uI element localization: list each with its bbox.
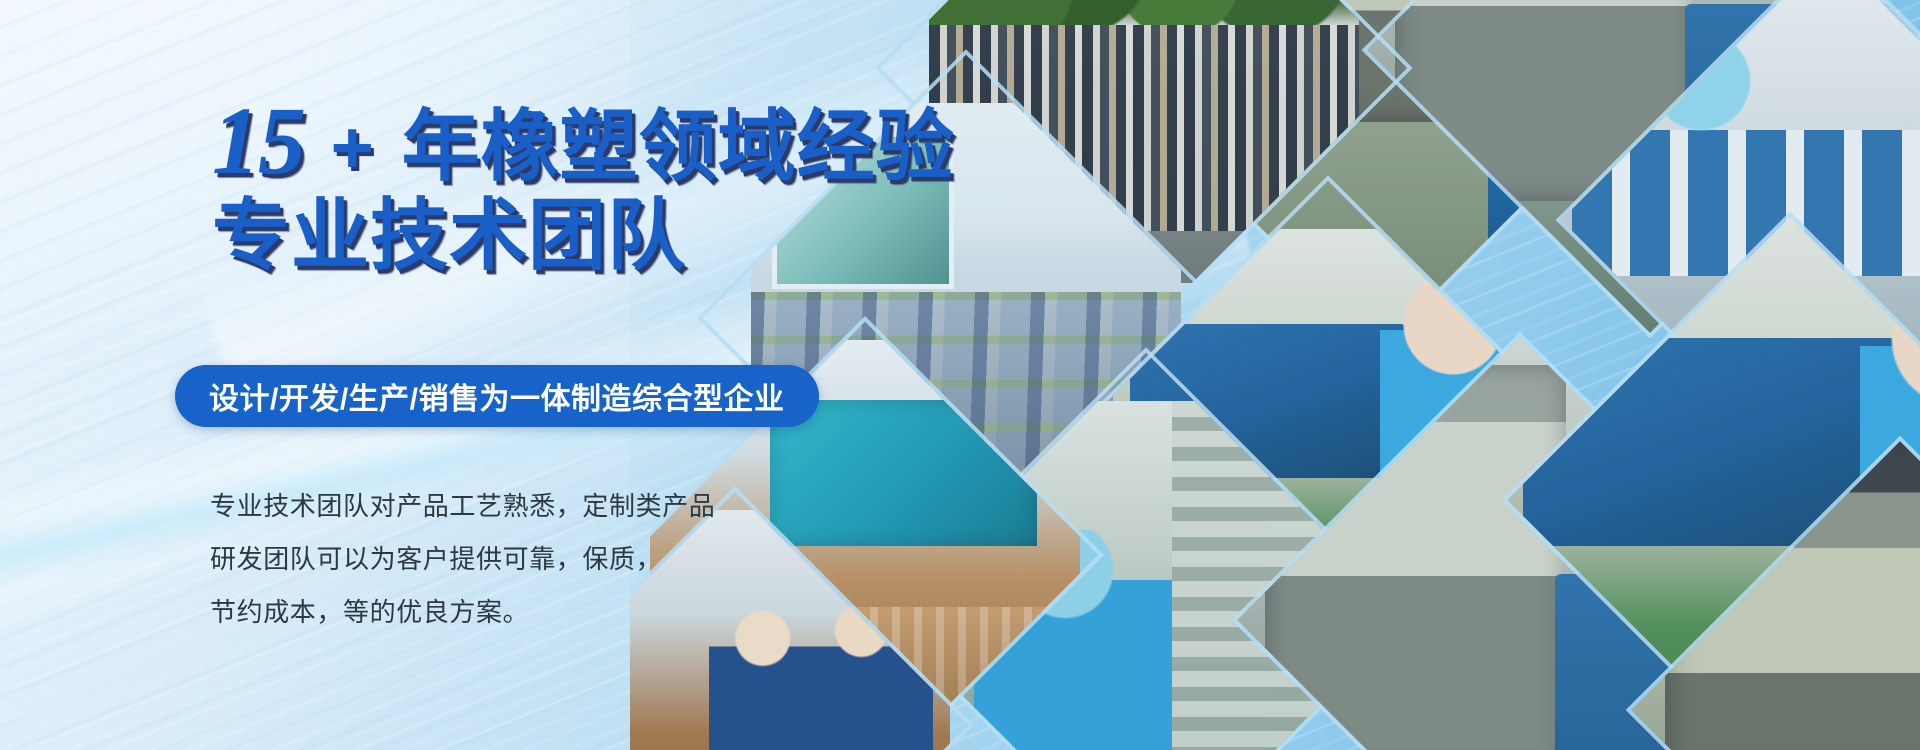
headline-line-1-text: 年橡塑领域经验 [402,102,955,190]
tagline-badge-label: 设计/开发/生产/销售为一体制造综合型企业 [209,374,785,418]
headline-plus-sign: + [331,106,375,189]
hero-copy: 15 + 年橡塑领域经验 专业技术团队 设计/开发/生产/销售为一体制造综合型企… [0,0,930,750]
headline-years-number: 15 [212,87,304,194]
hero-banner: 15 + 年橡塑领域经验 专业技术团队 设计/开发/生产/销售为一体制造综合型企… [0,0,1920,750]
hero-headline: 15 + 年橡塑领域经验 专业技术团队 [212,92,972,275]
headline-line-1: 15 + 年橡塑领域经验 [212,92,972,190]
hero-description: 专业技术团队对产品工艺熟悉，定制类产品 研发团队可以为客户提供可靠，保质， 节约… [210,480,870,639]
tagline-badge: 设计/开发/生产/销售为一体制造综合型企业 [175,365,819,427]
hero-description-line-3: 节约成本，等的优良方案。 [210,586,870,639]
hero-description-line-1: 专业技术团队对产品工艺熟悉，定制类产品 [210,480,870,533]
hero-description-line-2: 研发团队可以为客户提供可靠，保质， [210,533,870,586]
headline-line-2: 专业技术团队 [212,196,972,276]
